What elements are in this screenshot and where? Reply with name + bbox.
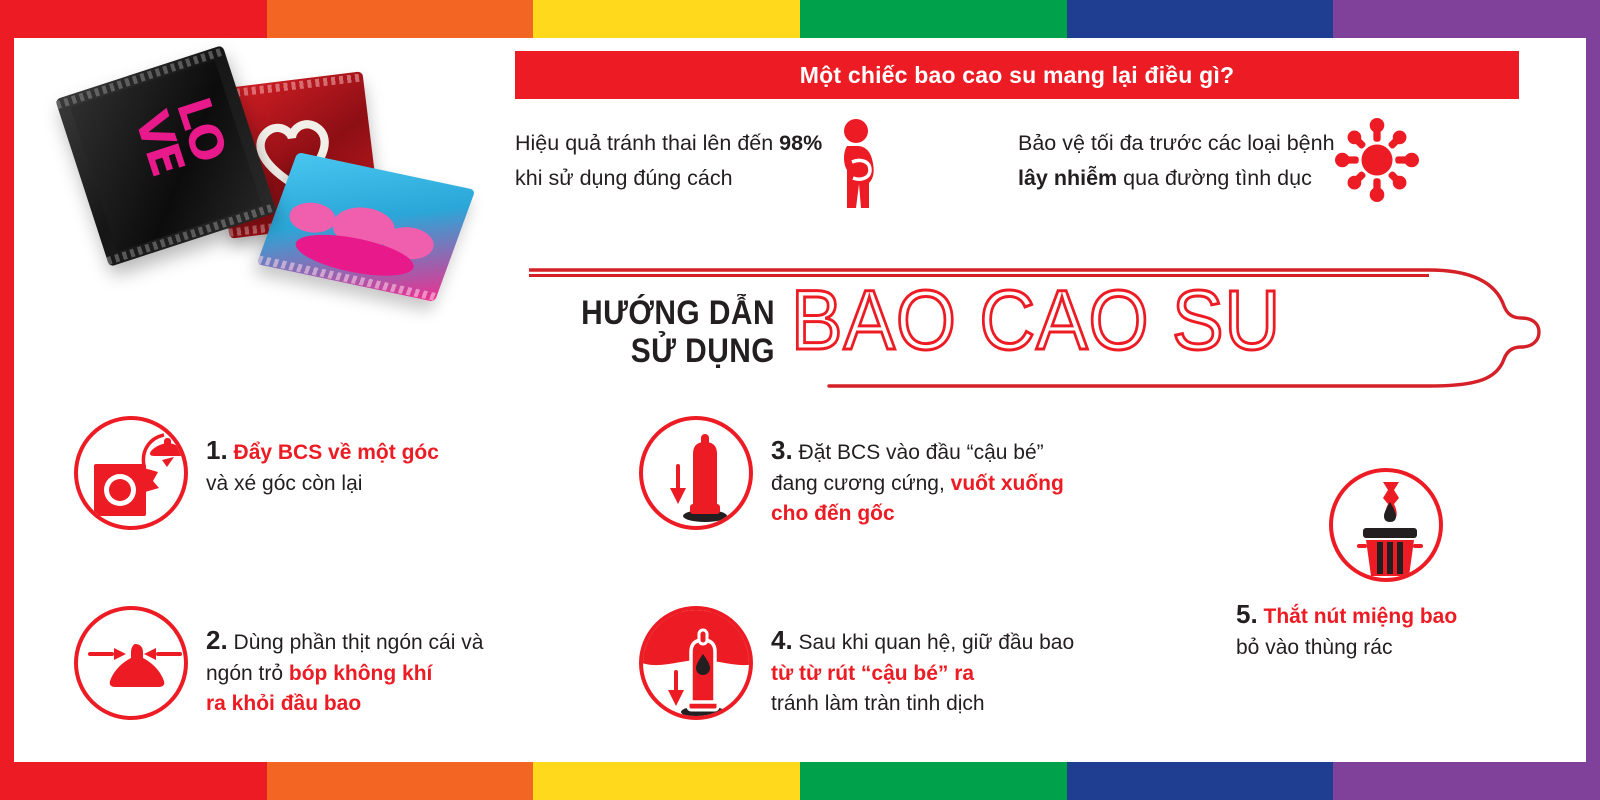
step-2-text: 2. Dùng phần thịt ngón cái và ngón trỏ b… xyxy=(206,606,483,719)
blue-pink-packet xyxy=(257,152,476,302)
benefit-sti-protection: Bảo vệ tối đa trước các loại bệnh lây nh… xyxy=(1018,118,1488,204)
benefit-value: 98% xyxy=(779,131,822,155)
banner-title: Một chiếc bao cao su mang lại điều gì? xyxy=(800,62,1234,89)
withdraw-hold-base-icon xyxy=(639,606,753,720)
heading-block: HƯỚNG DẪN SỬ DỤNG BAO CAO SU xyxy=(529,290,1539,390)
step-5-red-1: Thắt nút miệng bao xyxy=(1264,605,1458,628)
stripe-red xyxy=(0,762,267,800)
benefit-pregnancy-prevention: Hiệu quả tránh thai lên đến 98% khi sử d… xyxy=(515,118,955,204)
step-2: 2. Dùng phần thịt ngón cái và ngón trỏ b… xyxy=(74,606,483,720)
benefit-text: Bảo vệ tối đa trước các loại bệnh lây nh… xyxy=(1018,126,1335,196)
rainbow-stripe-bottom xyxy=(0,762,1600,800)
pregnant-woman-icon xyxy=(822,118,896,204)
step-4: 4. Sau khi quan hệ, giữ đầu bao từ từ rú… xyxy=(639,606,1074,720)
step-5-black-1: bỏ vào thùng rác xyxy=(1236,636,1392,659)
virus-icon xyxy=(1335,118,1409,204)
content-canvas: LOVE Một chiếc bao cao su mang lại điều … xyxy=(14,38,1586,762)
stripe-blue xyxy=(1067,0,1334,38)
step-4-red-1: từ từ rút “cậu bé” ra xyxy=(771,662,974,685)
stripe-purple xyxy=(1333,762,1600,800)
stripe-green xyxy=(800,0,1067,38)
step-2-red-2: ra khỏi đầu bao xyxy=(206,692,361,715)
step-3-red-1: vuốt xuống xyxy=(951,472,1064,495)
step-3-black-2: đang cương cứng, xyxy=(771,472,951,495)
step-1-red-1: Đẩy BCS về một góc xyxy=(234,441,439,464)
step-1-text: 1. Đẩy BCS về một góc và xé góc còn lại xyxy=(206,416,439,499)
step-1-number: 1. xyxy=(206,435,228,465)
stripe-blue xyxy=(1067,762,1334,800)
step-1-black-1: và xé góc còn lại xyxy=(206,472,362,495)
knot-and-trash-icon xyxy=(1329,468,1443,582)
benefit-line2-post: qua đường tình dục xyxy=(1117,166,1312,190)
stripe-orange xyxy=(267,0,534,38)
stripe-yellow xyxy=(533,762,800,800)
stripe-red xyxy=(0,0,267,38)
heading-kicker-line1: HƯỚNG DẪN xyxy=(581,294,775,332)
step-3-number: 3. xyxy=(771,435,793,465)
heading-kicker: HƯỚNG DẪN SỬ DỤNG xyxy=(559,294,775,370)
step-4-number: 4. xyxy=(771,625,793,655)
step-5-number: 5. xyxy=(1236,599,1258,629)
side-bar-right xyxy=(1586,0,1600,800)
step-4-text: 4. Sau khi quan hệ, giữ đầu bao từ từ rú… xyxy=(771,606,1074,719)
step-3-black-1: Đặt BCS vào đầu “cậu bé” xyxy=(799,441,1044,464)
benefit-line1: Bảo vệ tối đa trước các loại bệnh xyxy=(1018,131,1335,155)
heading-title: BAO CAO SU xyxy=(791,278,1281,362)
benefit-text: Hiệu quả tránh thai lên đến 98% khi sử d… xyxy=(515,126,822,196)
benefit-line2: khi sử dụng đúng cách xyxy=(515,166,733,190)
stripe-orange xyxy=(267,762,534,800)
benefit-line2-bold: lây nhiễm xyxy=(1018,166,1117,190)
condom-packets-photo: LOVE xyxy=(60,48,480,348)
benefit-line1-pre: Hiệu quả tránh thai lên đến xyxy=(515,131,779,155)
pinch-tip-arrows-icon xyxy=(74,606,188,720)
step-3: 3. Đặt BCS vào đầu “cậu bé” đang cương c… xyxy=(639,416,1064,530)
stripe-green xyxy=(800,762,1067,800)
step-3-red-2: cho đến gốc xyxy=(771,502,895,525)
side-bar-left xyxy=(0,0,14,800)
step-2-red-1: bóp không khí xyxy=(289,662,432,685)
step-2-black-1: Dùng phần thịt ngón cái và xyxy=(234,631,484,654)
step-1: 1. Đẩy BCS về một góc và xé góc còn lại xyxy=(74,416,439,530)
stripe-yellow xyxy=(533,0,800,38)
step-5-text: 5. Thắt nút miệng bao bỏ vào thùng rác xyxy=(1236,582,1536,663)
infographic-root: LOVE Một chiếc bao cao su mang lại điều … xyxy=(0,0,1600,800)
stripe-purple xyxy=(1333,0,1600,38)
step-2-black-2: ngón trỏ xyxy=(206,662,289,685)
step-4-black-2: tránh làm tràn tinh dịch xyxy=(771,692,985,715)
step-2-number: 2. xyxy=(206,625,228,655)
tear-packet-corner-icon xyxy=(74,416,188,530)
step-3-text: 3. Đặt BCS vào đầu “cậu bé” đang cương c… xyxy=(771,416,1064,529)
header-banner: Một chiếc bao cao su mang lại điều gì? xyxy=(515,51,1519,99)
heading-kicker-line2: SỬ DỤNG xyxy=(631,332,775,370)
step-4-black-1: Sau khi quan hệ, giữ đầu bao xyxy=(799,631,1075,654)
benefits-row: Hiệu quả tránh thai lên đến 98% khi sử d… xyxy=(515,118,1525,223)
roll-down-condom-icon xyxy=(639,416,753,530)
rainbow-stripe-top xyxy=(0,0,1600,38)
step-5: 5. Thắt nút miệng bao bỏ vào thùng rác xyxy=(1236,468,1536,663)
